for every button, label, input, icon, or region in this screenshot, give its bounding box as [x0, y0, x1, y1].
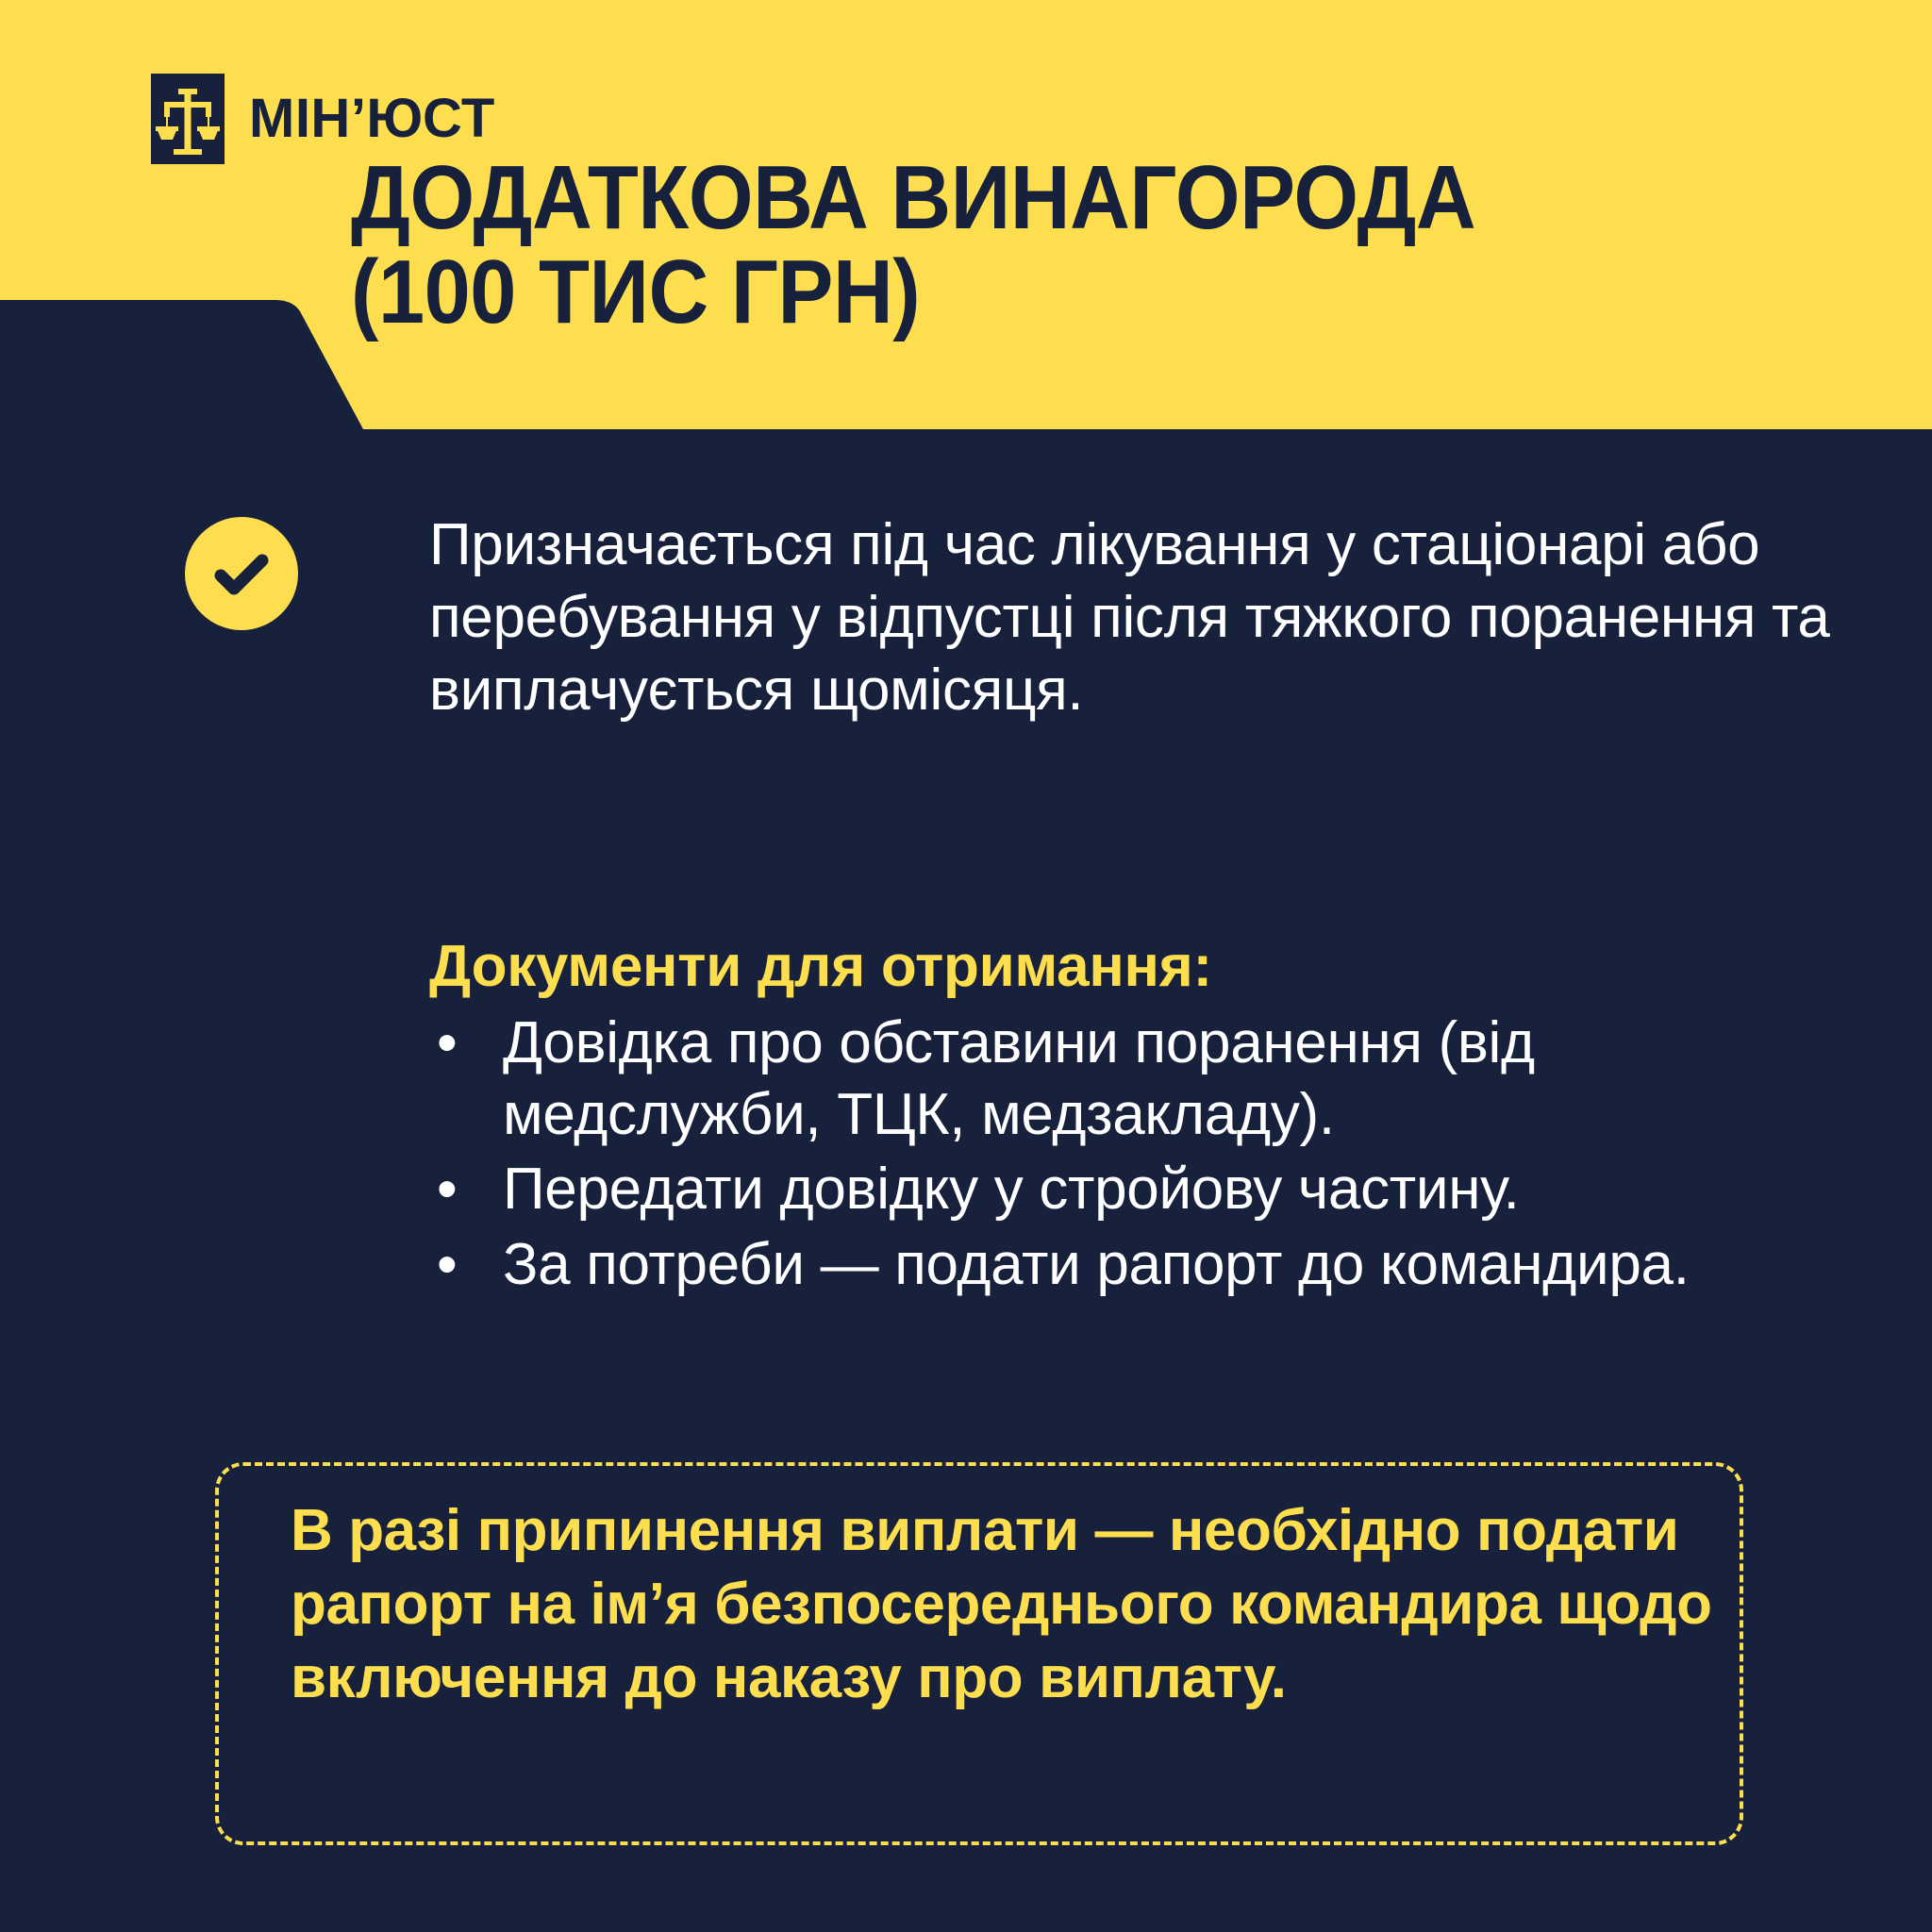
documents-list: • Довідка про обставини поранення (від м… [429, 1008, 1863, 1305]
bullet-icon: • [437, 1008, 457, 1079]
note-text: В разі припинення виплати — необхідно по… [291, 1494, 1762, 1715]
page-title-line-1: ДОДАТКОВА ВИНАГОРОДА [351, 151, 1740, 245]
documents-heading: Документи для отримання: [429, 932, 1212, 1002]
page-title-line-2: (100 ТИС ГРН) [351, 245, 1740, 340]
list-item-label: Довідка про обставини поранення (від мед… [503, 1010, 1535, 1147]
list-item-label: Передати довідку у стройову частину. [503, 1157, 1520, 1222]
header-banner: МІН’ЮСТ ДОДАТКОВА ВИНАГОРОДА (100 ТИС ГР… [0, 0, 1932, 434]
list-item: • Передати довідку у стройову частину. [429, 1154, 1863, 1225]
bullet-icon: • [437, 1229, 457, 1301]
list-item: • За потреби — подати рапорт до командир… [429, 1229, 1863, 1301]
page-title: ДОДАТКОВА ВИНАГОРОДА (100 ТИС ГРН) [351, 151, 1860, 340]
check-badge [185, 517, 298, 630]
ministry-wordmark: МІН’ЮСТ [249, 92, 495, 146]
bullet-icon: • [437, 1154, 457, 1225]
list-item-label: За потреби — подати рапорт до командира. [503, 1232, 1690, 1297]
scales-of-justice-icon [151, 74, 225, 164]
intro-paragraph: Призначається під час лікування у стаціо… [429, 509, 1844, 727]
check-circle-icon [185, 517, 298, 630]
list-item: • Довідка про обставини поранення (від м… [429, 1008, 1863, 1150]
